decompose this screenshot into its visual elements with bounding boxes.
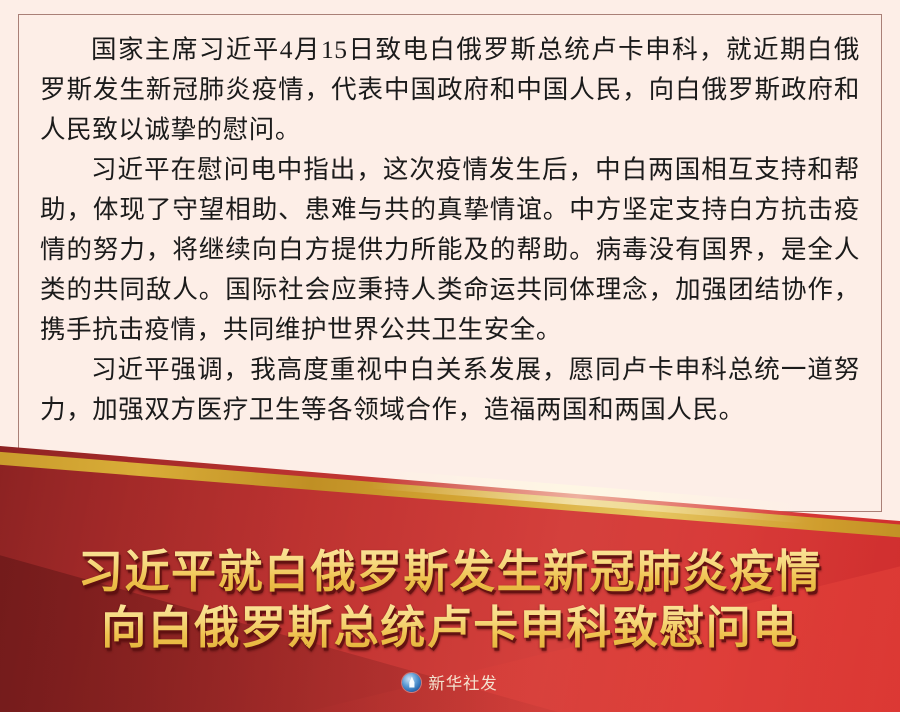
headline-text: 习近平就白俄罗斯发生新冠肺炎疫情 向白俄罗斯总统卢卡申科致慰问电 bbox=[0, 544, 900, 656]
source-credit-label: 新华社发 bbox=[428, 670, 497, 694]
source-credit: 新华社发 bbox=[0, 670, 900, 694]
headline-line-2: 向白俄罗斯总统卢卡申科致慰问电 bbox=[0, 600, 900, 656]
xinhua-emblem-icon bbox=[402, 673, 421, 692]
article-paragraph-1: 国家主席习近平4月15日致电白俄罗斯总统卢卡申科，就近期白俄罗斯发生新冠肺炎疫情… bbox=[40, 30, 860, 150]
news-poster: 国家主席习近平4月15日致电白俄罗斯总统卢卡申科，就近期白俄罗斯发生新冠肺炎疫情… bbox=[0, 0, 900, 712]
article-paragraph-2: 习近平在慰问电中指出，这次疫情发生后，中白两国相互支持和帮助，体现了守望相助、患… bbox=[40, 150, 860, 350]
article-paragraph-3: 习近平强调，我高度重视中白关系发展，愿同卢卡申科总统一道努力，加强双方医疗卫生等… bbox=[40, 350, 860, 430]
headline-line-1: 习近平就白俄罗斯发生新冠肺炎疫情 bbox=[0, 544, 900, 600]
headline-banner: 习近平就白俄罗斯发生新冠肺炎疫情 向白俄罗斯总统卢卡申科致慰问电 新华社发 bbox=[0, 432, 900, 712]
article-body: 国家主席习近平4月15日致电白俄罗斯总统卢卡申科，就近期白俄罗斯发生新冠肺炎疫情… bbox=[40, 30, 860, 430]
